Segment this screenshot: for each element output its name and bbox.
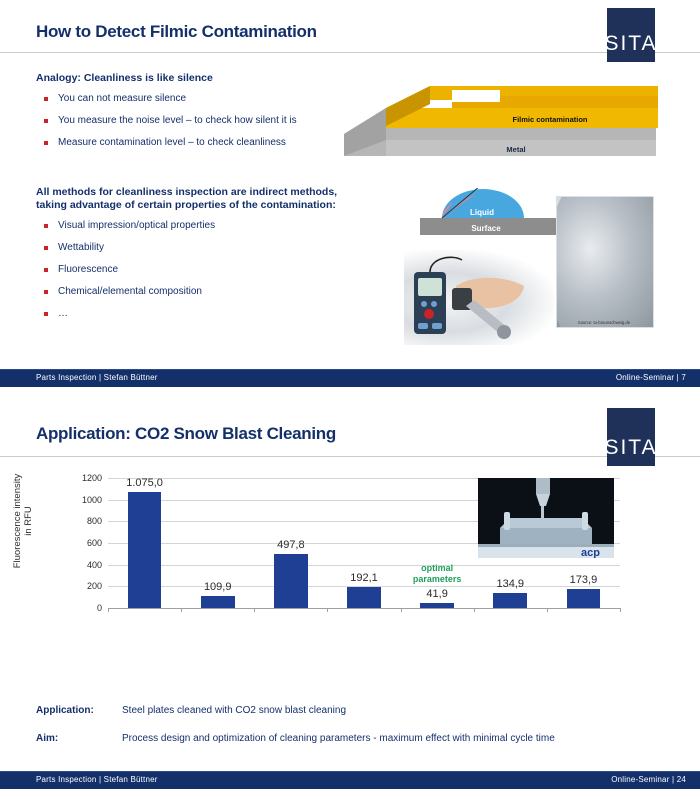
bullet-square-icon — [44, 290, 48, 294]
list-item-label: Visual impression/optical properties — [58, 220, 215, 231]
slide1-footer-right: Online-Seminar | 7 — [616, 373, 686, 382]
slide-how-to-detect-filmic-contamination: How to Detect Filmic Contamination SITA … — [0, 0, 700, 399]
bar-value-label: 109,9 — [204, 581, 232, 593]
list-item: You measure the noise level – to check h… — [36, 115, 366, 127]
slide1-title: How to Detect Filmic Contamination — [36, 22, 317, 42]
bar-value-label: 1.075,0 — [126, 477, 163, 489]
photo-source-caption: Source: tu-braunschweig.de — [556, 320, 652, 325]
list-item: Chemical/elemental composition — [36, 286, 366, 298]
list-item-label: Fluorescence — [58, 264, 118, 275]
list-item: … — [36, 308, 366, 320]
y-axis-tick-label: 1000 — [62, 495, 102, 505]
bar-value-label: 173,9 — [570, 574, 598, 586]
y-axis-tick-label: 0 — [62, 603, 102, 613]
aim-key: Aim: — [36, 733, 58, 744]
bullet-square-icon — [44, 141, 48, 145]
chart-bar — [420, 603, 454, 608]
filmic-contamination-illustration: Filmic contamination Metal — [340, 78, 660, 170]
list-item: Fluorescence — [36, 264, 366, 276]
x-axis-tick — [254, 608, 255, 612]
metal-label: Metal — [506, 145, 525, 154]
chart-bar — [567, 589, 601, 608]
chart-bar — [274, 554, 308, 608]
sita-logo: SITA — [607, 408, 655, 466]
slide2-footer: Parts Inspection | Stefan Büttner Online… — [0, 771, 700, 789]
list-item-label: Wettability — [58, 242, 104, 253]
list-item: You can not measure silence — [36, 93, 366, 105]
application-key: Application: — [36, 705, 94, 716]
acp-logo-text: acp — [581, 547, 600, 558]
slide1-lead-2: All methods for cleanliness inspection a… — [36, 186, 356, 212]
optimal-parameters-annotation: optimal parameters — [413, 563, 462, 585]
list-item: Wettability — [36, 242, 366, 254]
gridline — [108, 565, 620, 566]
application-value: Steel plates cleaned with CO2 snow blast… — [122, 705, 662, 716]
chart-bar — [128, 492, 162, 608]
slide1-bullet-list-2: Visual impression/optical properties Wet… — [36, 220, 366, 330]
handheld-device-svg — [404, 250, 554, 345]
x-axis-tick — [108, 608, 109, 612]
surface-label: Surface — [471, 224, 501, 233]
slide1-bullet-list-1: You can not measure silence You measure … — [36, 93, 366, 159]
bar-value-label: 497,8 — [277, 539, 305, 551]
slide2-title-rule — [0, 456, 700, 457]
x-axis-tick — [620, 608, 621, 612]
slide2-footer-right: Online-Seminar | 24 — [611, 775, 686, 784]
bullet-square-icon — [44, 224, 48, 228]
bar-value-label: 134,9 — [497, 578, 525, 590]
aim-value: Process design and optimization of clean… — [122, 733, 682, 744]
bullet-square-icon — [44, 312, 48, 316]
slide2-footer-left: Parts Inspection | Stefan Büttner — [36, 775, 158, 784]
x-axis-tick — [474, 608, 475, 612]
slides-page: How to Detect Filmic Contamination SITA … — [0, 0, 700, 799]
list-item-label: Chemical/elemental composition — [58, 286, 202, 297]
handheld-measuring-device-photo — [404, 250, 554, 345]
slide1-footer-left: Parts Inspection | Stefan Büttner — [36, 373, 158, 382]
y-axis-tick-label: 1200 — [62, 473, 102, 483]
bullet-square-icon — [44, 119, 48, 123]
chart-bar — [493, 593, 527, 608]
x-axis-tick — [401, 608, 402, 612]
film-label: Filmic contamination — [512, 115, 587, 124]
list-item: Measure contamination level – to check c… — [36, 137, 366, 149]
slide-application-co2-snow-blast-cleaning: Application: CO2 Snow Blast Cleaning SIT… — [0, 400, 700, 799]
slide1-lead-1: Analogy: Cleanliness is like silence — [36, 72, 356, 85]
y-axis-tick-label: 800 — [62, 516, 102, 526]
lab-equipment-photo — [556, 196, 654, 328]
sita-logo-text: SITA — [604, 437, 657, 466]
x-axis-tick — [547, 608, 548, 612]
co2-snow-blast-svg: acp — [478, 478, 614, 558]
x-axis-tick — [327, 608, 328, 612]
bar-value-label: 192,1 — [350, 572, 378, 584]
co2-snow-blast-inset-photo: acp — [478, 478, 614, 558]
contact-angle-svg: Liquid Surface — [420, 188, 560, 238]
fluorescence-bar-chart: Fluorescence intensity in RFU 0200400600… — [0, 466, 660, 616]
chart-bar — [201, 596, 235, 608]
slide1-title-rule — [0, 52, 700, 53]
liquid-label: Liquid — [470, 208, 494, 217]
bullet-square-icon — [44, 97, 48, 101]
list-item-label: You measure the noise level – to check h… — [58, 115, 297, 126]
slide1-footer: Parts Inspection | Stefan Büttner Online… — [0, 369, 700, 387]
list-item-label: … — [58, 308, 68, 319]
chart-bar — [347, 587, 381, 608]
chart-y-axis-label: Fluorescence intensity in RFU — [12, 456, 34, 586]
list-item-label: Measure contamination level – to check c… — [58, 137, 286, 148]
slide2-title: Application: CO2 Snow Blast Cleaning — [36, 424, 336, 444]
list-item: Visual impression/optical properties — [36, 220, 366, 232]
bullet-square-icon — [44, 268, 48, 272]
y-axis-tick-label: 200 — [62, 581, 102, 591]
bar-value-label: 41,9 — [426, 588, 447, 600]
contact-angle-illustration: Liquid Surface — [420, 188, 560, 238]
filmic-contamination-svg: Filmic contamination Metal — [340, 78, 660, 170]
gridline — [108, 608, 620, 609]
sita-logo: SITA — [607, 8, 655, 62]
bullet-square-icon — [44, 246, 48, 250]
x-axis-tick — [181, 608, 182, 612]
list-item-label: You can not measure silence — [58, 93, 186, 104]
y-axis-tick-label: 400 — [62, 560, 102, 570]
sita-logo-text: SITA — [604, 33, 657, 62]
y-axis-tick-label: 600 — [62, 538, 102, 548]
